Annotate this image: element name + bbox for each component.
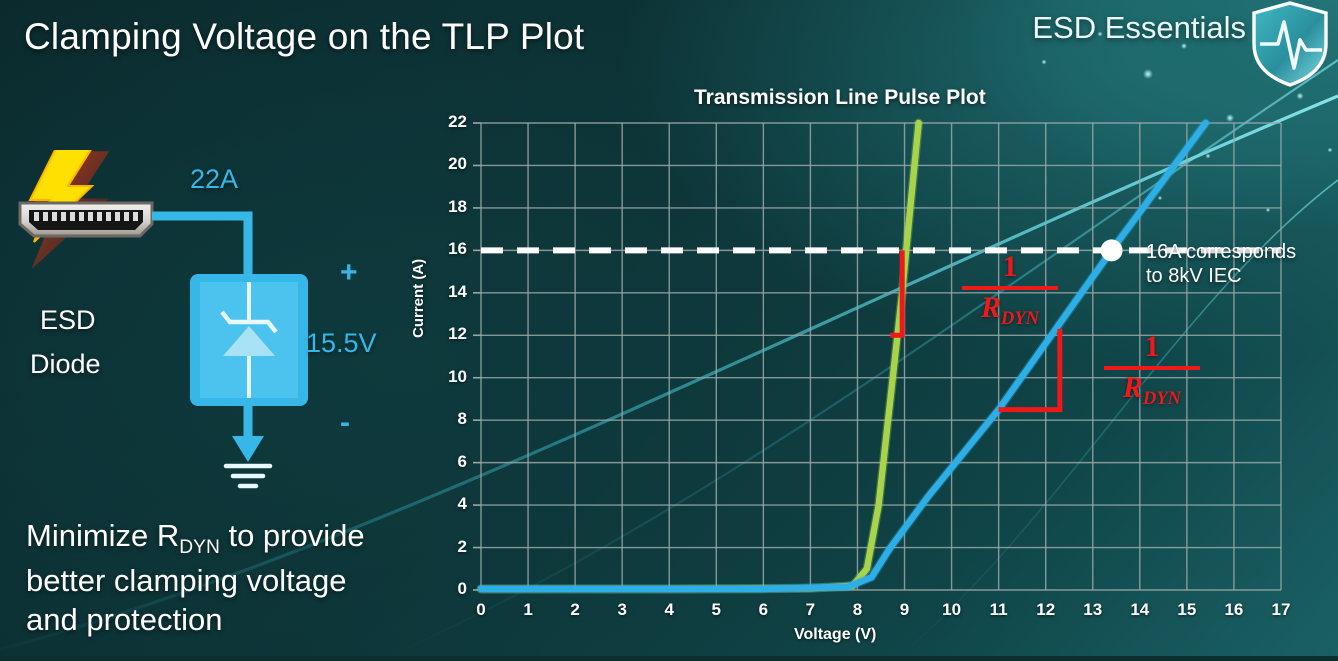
slope-denominator: RDYN bbox=[962, 292, 1058, 329]
chart-xlabel: Voltage (V) bbox=[794, 626, 876, 644]
device-label-line1: ESD bbox=[40, 305, 96, 336]
polarity-plus: + bbox=[340, 256, 358, 290]
y-tick-label: 22 bbox=[427, 112, 467, 132]
y-tick-label: 12 bbox=[427, 324, 467, 344]
y-tick-label: 8 bbox=[427, 409, 467, 429]
hdmi-connector-icon bbox=[20, 203, 152, 236]
device-label-line2: Diode bbox=[30, 349, 101, 380]
x-tick-label: 0 bbox=[466, 600, 496, 620]
caption-line2: better clamping voltage bbox=[26, 563, 347, 598]
fraction-bar bbox=[962, 286, 1058, 290]
x-tick-label: 13 bbox=[1078, 600, 1108, 620]
x-tick-label: 8 bbox=[842, 600, 872, 620]
y-tick-label: 16 bbox=[427, 239, 467, 259]
caption-line3: and protection bbox=[26, 602, 222, 637]
chart-series bbox=[481, 123, 1206, 589]
x-tick-label: 14 bbox=[1125, 600, 1155, 620]
slope-numerator: 1 bbox=[962, 252, 1058, 284]
chart-title: Transmission Line Pulse Plot bbox=[694, 86, 986, 110]
x-tick-label: 9 bbox=[890, 600, 920, 620]
x-tick-label: 3 bbox=[607, 600, 637, 620]
slope-fraction-low-rdyn: 1 RDYN bbox=[962, 252, 1058, 329]
voltage-label: 15.5V bbox=[306, 328, 377, 359]
x-tick-label: 5 bbox=[701, 600, 731, 620]
x-tick-label: 15 bbox=[1172, 600, 1202, 620]
esd-diode-block bbox=[190, 274, 308, 406]
esd-circuit-diagram: 22A ESD Diode 15.5V + - bbox=[0, 150, 420, 500]
clamping-callout: 16A corresponds to 8kV IEC bbox=[1146, 240, 1296, 289]
x-tick-label: 7 bbox=[795, 600, 825, 620]
x-tick-label: 17 bbox=[1266, 600, 1296, 620]
x-tick-label: 11 bbox=[984, 600, 1014, 620]
y-tick-label: 18 bbox=[427, 197, 467, 217]
caption-line1-a: Minimize R bbox=[26, 518, 179, 553]
y-tick-label: 6 bbox=[427, 452, 467, 472]
current-label: 22A bbox=[190, 164, 238, 195]
x-tick-label: 1 bbox=[513, 600, 543, 620]
summary-caption: Minimize RDYN to provide better clamping… bbox=[26, 516, 446, 640]
chart-ylabel: Current (A) bbox=[410, 259, 427, 338]
caption-line1-b: to provide bbox=[220, 518, 365, 553]
tlp-chart: Transmission Line Pulse Plot Current (A)… bbox=[404, 86, 1338, 656]
y-tick-label: 20 bbox=[427, 154, 467, 174]
y-tick-label: 0 bbox=[427, 579, 467, 599]
slide-root: Clamping Voltage on the TLP Plot ESD Ess… bbox=[0, 0, 1338, 656]
x-tick-label: 16 bbox=[1219, 600, 1249, 620]
callout-line1: 16A corresponds bbox=[1146, 241, 1296, 263]
y-tick-label: 4 bbox=[427, 494, 467, 514]
polarity-minus: - bbox=[340, 406, 350, 440]
fraction-bar bbox=[1104, 366, 1200, 370]
current-arrow-icon bbox=[232, 436, 264, 462]
x-tick-label: 6 bbox=[748, 600, 778, 620]
y-tick-label: 14 bbox=[427, 282, 467, 302]
x-tick-label: 2 bbox=[560, 600, 590, 620]
slope-numerator: 1 bbox=[1104, 332, 1200, 364]
y-tick-label: 10 bbox=[427, 367, 467, 387]
slope-fraction-high-rdyn: 1 RDYN bbox=[1104, 332, 1200, 409]
brand-label: ESD Essentials bbox=[1032, 10, 1246, 46]
shield-heartbeat-icon bbox=[1248, 0, 1332, 88]
x-tick-label: 12 bbox=[1031, 600, 1061, 620]
ground-symbol bbox=[226, 466, 270, 486]
slope-denominator: RDYN bbox=[1104, 372, 1200, 409]
caption-line1-sub: DYN bbox=[179, 537, 220, 558]
y-tick-label: 2 bbox=[427, 537, 467, 557]
page-title: Clamping Voltage on the TLP Plot bbox=[24, 16, 584, 58]
callout-line2: to 8kV IEC bbox=[1146, 265, 1242, 287]
x-tick-label: 4 bbox=[654, 600, 684, 620]
chart-markers bbox=[1101, 239, 1123, 261]
x-tick-label: 10 bbox=[937, 600, 967, 620]
